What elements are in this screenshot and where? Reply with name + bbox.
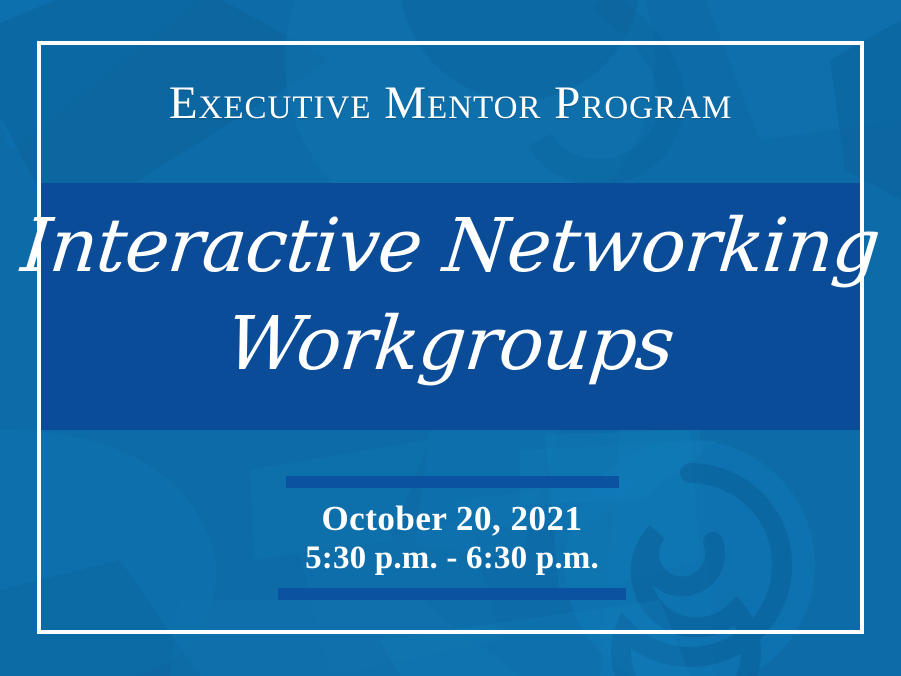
date-time-block: October 20, 2021 5:30 p.m. - 6:30 p.m. [278,476,626,600]
headline-block: Interactive Networking Workgroups [41,192,860,422]
rule-above-date [286,476,619,488]
event-date: October 20, 2021 [278,498,626,539]
rule-below-date [278,588,626,600]
headline-line-1: Interactive Networking [17,198,884,296]
event-time: 5:30 p.m. - 6:30 p.m. [278,539,626,578]
headline-line-2: Workgroups [222,296,678,394]
page-title: Executive Mentor Program [169,80,732,127]
date-time-text: October 20, 2021 5:30 p.m. - 6:30 p.m. [278,498,626,578]
page-title-row: Executive Mentor Program [41,66,860,141]
event-flyer: Executive Mentor Program Interactive Net… [0,0,901,676]
